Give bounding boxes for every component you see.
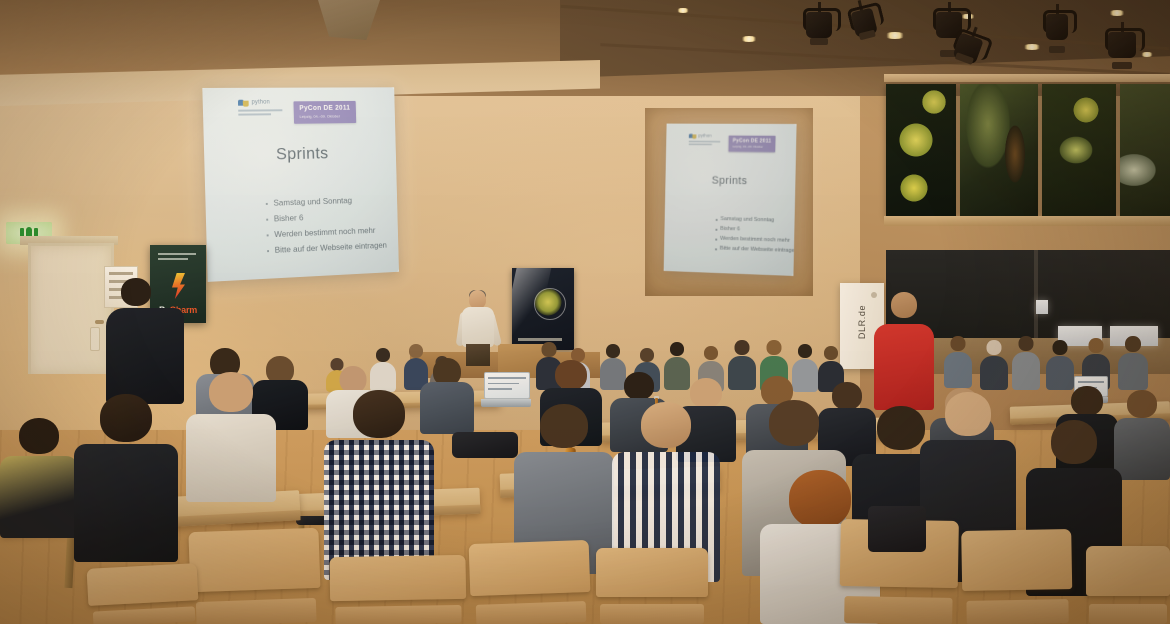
- artwork-panel: [1042, 84, 1116, 216]
- audience-member: [944, 336, 972, 388]
- slide-bullet: Bisher 6: [715, 226, 796, 234]
- ceiling-lamp: [1140, 52, 1154, 57]
- backpack: [868, 506, 926, 552]
- audience-member: [1012, 336, 1040, 390]
- slide-secondary: python PyCon DE 2011 Leipzig, 04.–09. Ok…: [664, 124, 797, 276]
- pycon-badge: PyCon DE 2011 Leipzig, 04.–09. Oktober: [293, 101, 356, 124]
- pycon-badge: PyCon DE 2011 Leipzig, 04.–09. Oktober: [728, 135, 775, 152]
- audience-member: [1114, 390, 1170, 480]
- slide-bullet: Werden bestimmt noch mehr: [267, 225, 387, 240]
- stage-spotlight: [806, 2, 832, 42]
- door: [28, 243, 114, 374]
- audience-member-checked-shirt: [324, 390, 434, 580]
- satellite-poster: [512, 268, 574, 350]
- audience-member: [1046, 340, 1074, 390]
- light-panel: [1036, 300, 1048, 314]
- chair: [329, 555, 466, 624]
- conference-hall-photo: python PyCon DE 2011 Leipzig, 04.–09. Ok…: [0, 0, 1170, 624]
- projection-screen-main: python PyCon DE 2011 Leipzig, 04.–09. Ok…: [202, 87, 399, 282]
- slide-bullet: Samstag und Sonntag: [716, 216, 797, 224]
- slide-header: python PyCon DE 2011 Leipzig, 04.–09. Ok…: [689, 132, 776, 152]
- ceiling-lamp: [676, 8, 690, 13]
- projection-screen-secondary: python PyCon DE 2011 Leipzig, 04.–09. Ok…: [664, 124, 797, 276]
- ceiling-lamp: [1108, 10, 1126, 16]
- slide-bullet: Bisher 6: [266, 209, 386, 223]
- chair: [961, 529, 1073, 624]
- chair: [469, 540, 592, 624]
- slide-title: Sprints: [665, 174, 795, 188]
- slide-bullet-list: Samstag und Sonntag Bisher 6 Werden best…: [227, 194, 387, 263]
- slide-bullet: Bitte auf der Webseite eintragen: [715, 245, 797, 254]
- slide-title: Sprints: [204, 142, 396, 166]
- audience-member: [0, 418, 78, 538]
- audience-member: [74, 394, 178, 562]
- laptop[interactable]: [484, 372, 528, 406]
- ceiling-lamp: [740, 36, 758, 42]
- light-switch: [90, 327, 100, 351]
- pycon-badge-title: PyCon DE 2011: [299, 105, 350, 112]
- stage-spotlight: [1108, 22, 1136, 66]
- audience-member: [186, 372, 276, 502]
- pycon-badge-subtitle: Leipzig, 04.–09. Oktober: [733, 145, 771, 149]
- presenter: [458, 290, 498, 364]
- bag-on-table: [452, 432, 518, 458]
- slide-bullet: Samstag und Sonntag: [266, 194, 386, 208]
- standing-attendee-dark-suit: [106, 278, 184, 404]
- slide-bullet-list: Samstag und Sonntag Bisher 6 Werden best…: [677, 215, 796, 258]
- artwork-panel: [886, 84, 956, 216]
- artwork-base-rail: [884, 216, 1170, 226]
- slide-bullet: Bitte auf der Webseite eintragen: [267, 240, 387, 255]
- stage-spotlight: [1046, 4, 1068, 50]
- slide-header: python PyCon DE 2011 Leipzig, 04.–09. Ok…: [238, 97, 356, 124]
- chair: [1086, 546, 1170, 624]
- artwork-panel: [960, 84, 1038, 216]
- python-logo-icon: python: [238, 97, 290, 117]
- audience-member: [1118, 336, 1148, 390]
- chair: [188, 528, 321, 624]
- pycon-badge-subtitle: Leipzig, 04.–09. Oktober: [299, 113, 350, 118]
- artwork-rail: [884, 74, 1170, 82]
- dlr-banner-label: DLR.de: [857, 284, 867, 360]
- ceiling-lamp: [1022, 44, 1042, 50]
- chair: [596, 548, 708, 624]
- slide-bullet: Werden bestimmt noch mehr: [715, 236, 796, 244]
- artwork-panel: [1120, 84, 1170, 216]
- python-logo-text: python: [698, 134, 711, 138]
- audience-member: [980, 340, 1008, 390]
- slide-main: python PyCon DE 2011 Leipzig, 04.–09. Ok…: [202, 87, 399, 282]
- python-logo-icon: python: [689, 132, 726, 146]
- pycon-badge-title: PyCon DE 2011: [733, 138, 772, 143]
- python-logo-text: python: [251, 99, 270, 105]
- ceiling-lamp: [884, 32, 906, 39]
- chair: [87, 563, 200, 624]
